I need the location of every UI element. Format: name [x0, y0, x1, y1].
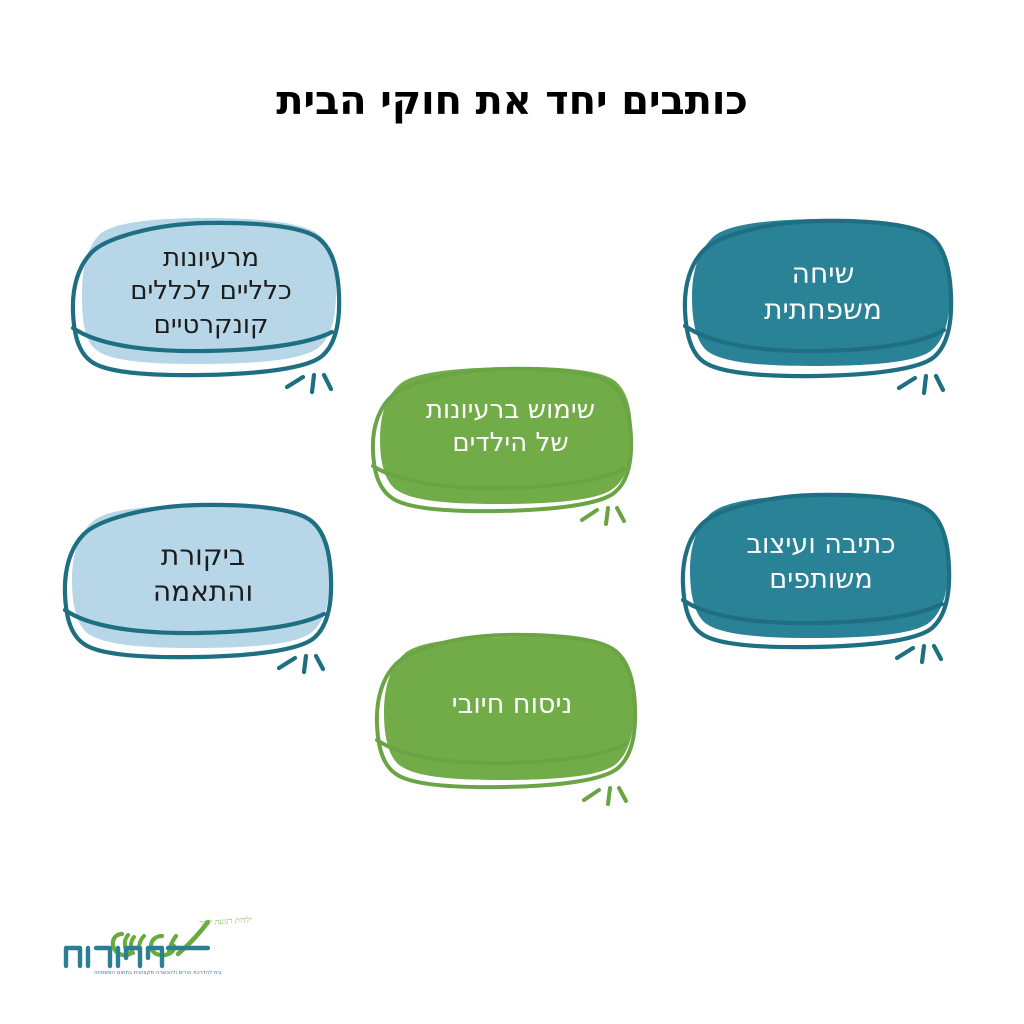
organization-logo[interactable]: ילדות רגועה יותר בית להדרכת הורים ולהכשר… [58, 916, 258, 988]
bubble-review-and-adjust[interactable]: ביקורת והתאמה [48, 500, 358, 672]
bubble-shape [358, 362, 663, 524]
bubble-shape [668, 212, 978, 392]
logo-tagline: בית להדרכת הורים ולהכשרה מקצועית בתחום ה… [58, 970, 258, 976]
bubble-family-conversation[interactable]: שיחה משפחתית [668, 212, 978, 392]
bubble-shape [362, 632, 662, 804]
bubble-positive-phrasing[interactable]: ניסוח חיובי [362, 632, 662, 804]
bubble-shape [666, 490, 976, 662]
spark-lines-icon [899, 376, 943, 393]
bubble-joint-writing-design[interactable]: כתיבה ועיצוב משותפים [666, 490, 976, 662]
bubble-use-children-ideas[interactable]: שימוש ברעיונות של הילדים [358, 362, 663, 524]
bubble-general-to-concrete[interactable]: מרעיונות כלליים לכללים קונקרטיים [56, 212, 366, 392]
spark-lines-icon [582, 508, 624, 524]
infographic-canvas: כותבים יחד את חוקי הבית מרעיונות כלליים … [0, 0, 1024, 1024]
spark-lines-icon [584, 788, 626, 804]
bubble-shape [48, 500, 358, 672]
page-title: כותבים יחד את חוקי הבית [0, 78, 1024, 124]
spark-lines-icon [897, 646, 941, 662]
spark-lines-icon [279, 656, 323, 672]
bubble-shape [56, 212, 366, 392]
spark-lines-icon [287, 375, 331, 392]
